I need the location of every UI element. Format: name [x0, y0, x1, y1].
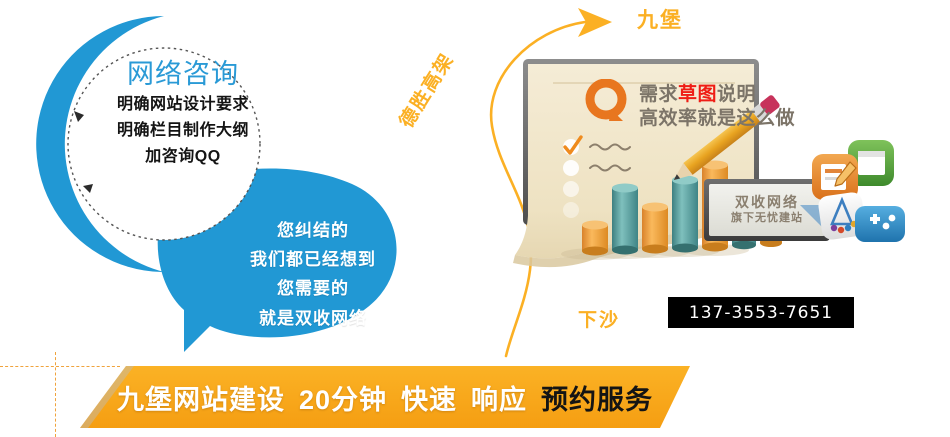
mini-screen-line-1: 双收网络: [735, 194, 799, 212]
map-label-top: 九堡: [637, 4, 683, 34]
cta-segment-5: 预约服务: [541, 378, 653, 417]
cta-segment-1: 九堡网站建设: [117, 378, 285, 417]
phone-number-text: 137-3553-7651: [689, 303, 833, 323]
q-logo-icon: [585, 79, 631, 125]
app-icon-cluster: [810, 138, 950, 253]
guide-line-vertical: [55, 352, 56, 437]
consult-bullet-2: 明确栏目制作大纲: [78, 118, 288, 144]
phone-number-plate: 137-3553-7651: [668, 297, 854, 328]
consult-circle-content: 网络咨询 明确网站设计要求 明确栏目制作大纲 加咨询QQ: [78, 58, 288, 223]
slide-title: 需求草图说明: [639, 79, 756, 106]
slide-title-suffix: 说明: [717, 84, 756, 105]
slide-title-highlight: 草图: [678, 84, 717, 105]
bar-2: [612, 184, 638, 255]
consult-bullet-1: 明确网站设计要求: [78, 92, 288, 118]
gamepad-icon: [855, 206, 905, 242]
consult-bullet-3: 加咨询QQ: [78, 144, 288, 170]
promo-banner-image: 网络咨询 明确网站设计要求 明确栏目制作大纲 加咨询QQ 您纠结的 我们都已经想…: [0, 0, 950, 437]
cta-segment-4: 响应: [471, 378, 527, 417]
bar-1: [582, 221, 608, 256]
cta-segment-2: 20分钟: [299, 378, 387, 417]
bar-4: [672, 176, 698, 253]
map-label-bottom: 下沙: [578, 305, 620, 332]
slide-subtitle: 高效率就是这么做: [639, 103, 795, 130]
cta-banner-text: 九堡网站建设 20分钟 快速 响应 预约服务: [80, 366, 690, 428]
mini-screen-line-2: 旗下无忧建站: [731, 211, 803, 226]
bar-3: [642, 203, 668, 254]
presentation-scene: 需求草图说明 高效率就是这么做: [495, 55, 825, 285]
slide-title-prefix: 需求: [639, 84, 678, 105]
cta-banner[interactable]: 九堡网站建设 20分钟 快速 响应 预约服务: [80, 366, 690, 428]
cta-segment-3: 快速: [401, 378, 457, 417]
consult-circle-title: 网络咨询: [78, 58, 288, 92]
